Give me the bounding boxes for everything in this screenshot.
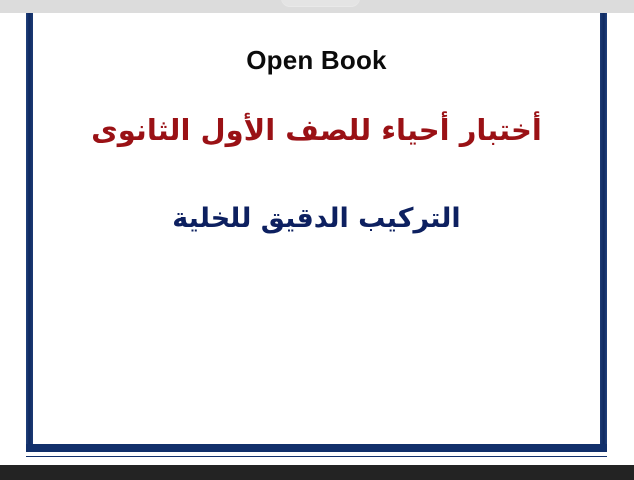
page-border-right xyxy=(600,0,607,452)
exam-heading-arabic: أختبار أحياء للصف الأول الثانوى xyxy=(33,113,600,147)
page-border-bottom-scallop xyxy=(26,450,607,457)
topic-heading-arabic: التركيب الدقيق للخلية xyxy=(33,203,600,234)
camera-notch-icon xyxy=(281,0,360,6)
document-page: Open Book أختبار أحياء للصف الأول الثانو… xyxy=(0,0,634,465)
page-border-left xyxy=(26,0,33,452)
document-content: Open Book أختبار أحياء للصف الأول الثانو… xyxy=(33,13,600,444)
page-title: Open Book xyxy=(33,45,600,76)
device-screen: Open Book أختبار أحياء للصف الأول الثانو… xyxy=(0,0,634,480)
system-navigation-bar[interactable] xyxy=(0,465,634,480)
scallop-wave-shape xyxy=(26,456,607,457)
status-bar xyxy=(0,0,634,13)
